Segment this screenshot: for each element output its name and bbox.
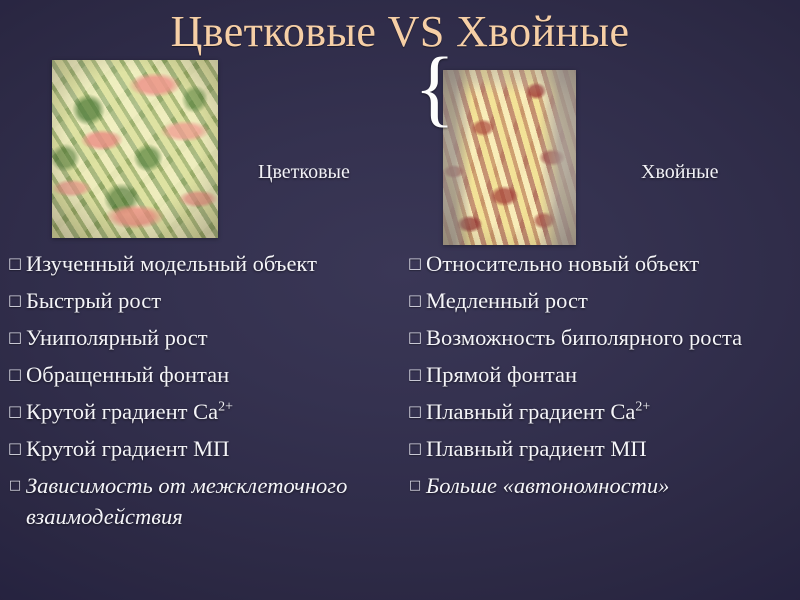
bullet-marker-icon: □ xyxy=(404,285,426,316)
list-item: □Крутой градиент Ca2+ xyxy=(4,396,424,427)
bullet-list-flowering: □Изученный модельный объект□Быстрый рост… xyxy=(4,248,424,538)
list-item: □Быстрый рост xyxy=(4,285,424,316)
list-item: □Обращенный фонтан xyxy=(4,359,424,390)
bullet-marker-icon: □ xyxy=(404,433,426,464)
list-item-label: Медленный рост xyxy=(426,285,796,316)
bullet-marker-icon: □ xyxy=(404,322,426,353)
list-item: □Изученный модельный объект xyxy=(4,248,424,279)
bullet-marker-icon: □ xyxy=(4,285,26,316)
list-item: □Прямой фонтан xyxy=(404,359,796,390)
caption-conifer: Хвойные xyxy=(641,160,718,184)
superscript-charge: 2+ xyxy=(218,400,233,415)
bullet-marker-icon: □ xyxy=(404,359,426,390)
decorative-brace-icon: { xyxy=(414,44,455,130)
photo-layer-vignette xyxy=(443,70,576,245)
list-item-label: Плавный градиент МП xyxy=(426,433,796,464)
bullet-marker-icon: □ xyxy=(4,470,26,501)
bullet-marker-icon: □ xyxy=(4,396,26,427)
list-item-label: Больше «автономности» xyxy=(426,470,796,501)
list-item-label: Зависимость от межклеточного взаимодейст… xyxy=(26,470,424,532)
bullet-list-conifer: □Относительно новый объект□Медленный рос… xyxy=(404,248,796,507)
presentation-slide: Цветковые VS Хвойные { Цветковые Хвойные… xyxy=(0,0,800,600)
list-item-label: Обращенный фонтан xyxy=(26,359,424,390)
list-item-label: Возможность биполярного роста xyxy=(426,322,796,353)
bullet-marker-icon: □ xyxy=(4,248,26,279)
bullet-marker-icon: □ xyxy=(4,322,26,353)
list-item: □Плавный градиент МП xyxy=(404,433,796,464)
bullet-marker-icon: □ xyxy=(4,359,26,390)
flowering-plant-photo xyxy=(52,60,218,238)
list-item-label: Относительно новый объект xyxy=(426,248,796,279)
list-item: □Зависимость от межклеточного взаимодейс… xyxy=(4,470,424,532)
list-item-label: Изученный модельный объект xyxy=(26,248,424,279)
photo-layer-vignette xyxy=(52,60,218,238)
list-item: □Относительно новый объект xyxy=(404,248,796,279)
list-item: □Больше «автономности» xyxy=(404,470,796,501)
superscript-charge: 2+ xyxy=(635,400,650,415)
list-item: □Крутой градиент МП xyxy=(4,433,424,464)
list-item-label: Плавный градиент Ca2+ xyxy=(426,396,796,427)
list-item-label: Прямой фонтан xyxy=(426,359,796,390)
list-item: □Возможность биполярного роста xyxy=(404,322,796,353)
bullet-marker-icon: □ xyxy=(404,470,426,501)
bullet-marker-icon: □ xyxy=(404,396,426,427)
caption-flowering: Цветковые xyxy=(258,160,350,184)
conifer-photo xyxy=(443,70,576,245)
bullet-marker-icon: □ xyxy=(404,248,426,279)
list-item-label: Крутой градиент Ca2+ xyxy=(26,396,424,427)
list-item-label: Крутой градиент МП xyxy=(26,433,424,464)
list-item-label: Быстрый рост xyxy=(26,285,424,316)
list-item: □Плавный градиент Ca2+ xyxy=(404,396,796,427)
page-title: Цветковые VS Хвойные xyxy=(0,6,800,58)
list-item-label: Униполярный рост xyxy=(26,322,424,353)
bullet-marker-icon: □ xyxy=(4,433,26,464)
list-item: □Униполярный рост xyxy=(4,322,424,353)
list-item: □Медленный рост xyxy=(404,285,796,316)
